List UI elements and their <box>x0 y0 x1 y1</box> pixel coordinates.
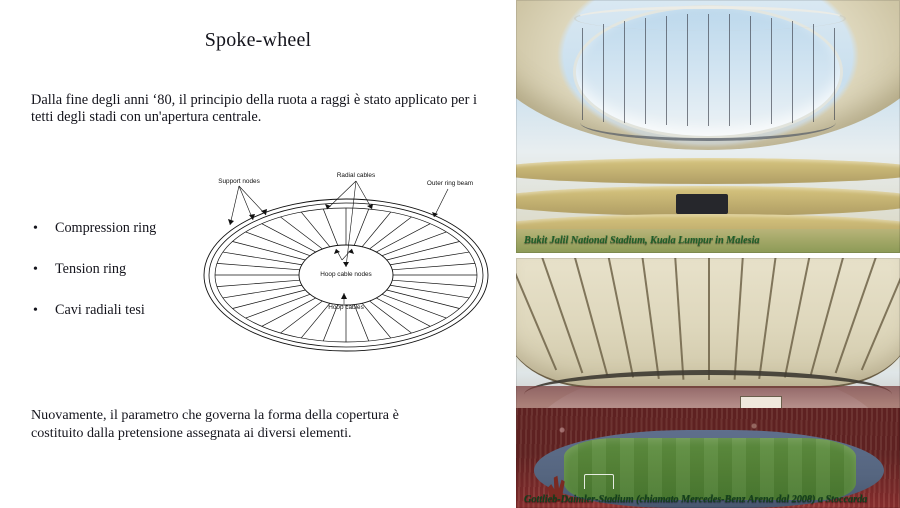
goal-net <box>584 474 614 489</box>
roof-rib <box>759 258 778 379</box>
list-item: • Cavi radiali tesi <box>28 302 218 319</box>
leader-radial-c <box>356 181 372 209</box>
spoke-wheel-svg: Support nodes Radial cables Outer ring b… <box>196 163 496 358</box>
oculus-cable <box>645 18 646 124</box>
upper-ring-beam <box>574 6 846 31</box>
page-title: Spoke-wheel <box>0 29 516 52</box>
roof-rib <box>861 258 900 370</box>
leader-outer-ring <box>434 189 448 217</box>
radial-cable <box>223 285 302 298</box>
radial-cable <box>217 263 300 269</box>
slide-content-pane: Spoke-wheel Dalla fine degli anni ‘80, i… <box>0 0 516 508</box>
label-hoop-cables: Hoop cables <box>328 304 364 311</box>
oculus-cable <box>603 24 604 121</box>
roof-rib <box>784 258 811 378</box>
radial-cable <box>387 290 460 309</box>
bullet-icon: • <box>33 220 38 237</box>
photo-caption-gottlieb-daimler: Gottlieb-Daimler-Stadium (chiamato Merce… <box>524 494 900 506</box>
oculus-cable <box>624 21 625 123</box>
bullet-list: • Compression ring • Tension ring • Cavi… <box>28 220 218 343</box>
radial-cable <box>217 280 300 286</box>
radial-cable <box>390 252 469 265</box>
oculus-cable <box>813 24 814 121</box>
label-support-nodes: Support nodes <box>218 178 260 185</box>
photo-column: Bukit Jalil National Stadium, Kuala Lump… <box>516 0 900 508</box>
photo-bukit-jalil-national-stadium: Bukit Jalil National Stadium, Kuala Lump… <box>516 0 900 253</box>
roof-rib <box>607 258 634 378</box>
roof-rib <box>573 258 608 376</box>
closing-paragraph: Nuovamente, il parametro che governa la … <box>31 406 451 442</box>
roof-rib <box>674 258 684 380</box>
photo-gottlieb-daimler-stadium: Gottlieb-Daimler-Stadium (chiamato Merce… <box>516 258 900 508</box>
roof-rib <box>641 258 660 379</box>
oculus-cable <box>582 28 583 120</box>
football-pitch <box>564 438 856 500</box>
intro-paragraph: Dalla fine degli anni ‘80, il principio … <box>31 92 491 126</box>
oculus-cable <box>750 16 751 125</box>
oculus-cable <box>687 14 688 125</box>
scoreboard <box>676 194 728 214</box>
oculus-cable <box>792 21 793 123</box>
list-item: • Compression ring <box>28 220 218 237</box>
radial-cable <box>390 285 469 298</box>
radial-cable <box>301 212 330 247</box>
label-radial-cables: Radial cables <box>337 172 375 179</box>
roof-rib <box>516 258 557 370</box>
oculus-cable <box>771 18 772 124</box>
oculus-cable <box>708 14 709 126</box>
radial-cable <box>233 242 306 261</box>
radial-cable <box>354 209 369 245</box>
pitch-mowing-lines <box>564 438 856 500</box>
radial-cable <box>301 303 330 338</box>
list-item: • Tension ring <box>28 261 218 278</box>
radial-cable <box>362 303 391 338</box>
oculus-cable <box>666 16 667 125</box>
radial-cable <box>323 209 338 245</box>
bullet-icon: • <box>33 261 38 278</box>
radial-cable <box>233 290 306 309</box>
oculus-cable <box>729 14 730 125</box>
arrowhead-radial-c <box>367 204 373 209</box>
radial-cable <box>392 263 475 269</box>
leader-radial-a <box>327 181 356 209</box>
list-item-label: Compression ring <box>55 220 156 236</box>
roof-rib <box>540 258 583 373</box>
roof-rib <box>733 258 743 380</box>
label-outer-ring-beam: Outer ring beam <box>427 180 473 187</box>
oculus-cable <box>834 28 835 120</box>
bullet-icon: • <box>33 302 38 319</box>
leader-support-nodes-c <box>230 186 239 225</box>
leader-support-nodes-b <box>239 186 266 215</box>
roof-rib <box>708 258 710 380</box>
photo-caption-bukit-jalil: Bukit Jalil National Stadium, Kuala Lump… <box>524 235 900 247</box>
spoke-wheel-plan-diagram: Support nodes Radial cables Outer ring b… <box>196 163 496 358</box>
label-hoop-cable-nodes: Hoop cable nodes <box>320 271 372 278</box>
list-item-label: Tension ring <box>55 261 126 277</box>
radial-cable <box>387 242 460 261</box>
radial-cable <box>223 252 302 265</box>
roof-rib <box>835 258 878 373</box>
radial-cable <box>392 280 475 286</box>
radial-cable <box>362 212 391 247</box>
stand-tier-upper <box>516 158 900 184</box>
fabric-roof-canopy <box>516 258 900 388</box>
list-item-label: Cavi radiali tesi <box>55 302 145 318</box>
